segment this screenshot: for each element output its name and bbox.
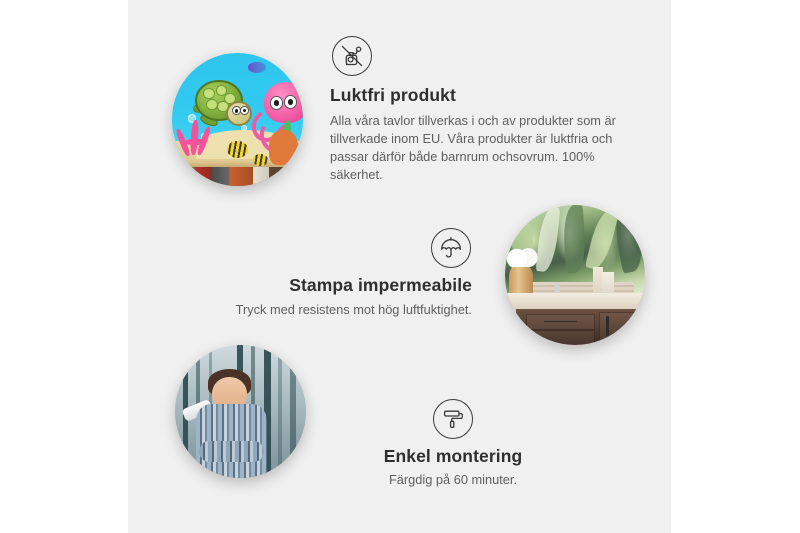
tree-trunk (278, 345, 282, 478)
stone-countertop (505, 293, 645, 310)
vanity-drawer (526, 314, 595, 329)
vanity-door (599, 312, 640, 345)
feature-description: Alla våra tavlor tillverkas i och av pro… (330, 112, 630, 185)
photo-underwater-kids-scene (172, 53, 303, 186)
turtle-eye (240, 106, 249, 115)
feature-title: Enkel montering (318, 446, 588, 468)
shell-spot (203, 88, 215, 99)
feature-icon-wrapper (175, 228, 471, 268)
octopus-eye (284, 95, 297, 109)
lower-scene-strip (172, 167, 303, 186)
door-handle (606, 316, 609, 336)
photo-bathroom-tropical-wallpaper (505, 205, 645, 345)
feature-title: Luktfri produkt (330, 85, 630, 107)
feature-block-waterproof-print: Stampa impermeabile Tryck med resistens … (175, 228, 472, 319)
coral-orange-icon (269, 130, 298, 165)
feature-block-odour-free: Luktfri produkt Alla våra tavlor tillver… (330, 36, 630, 185)
drawer-handle (544, 321, 577, 322)
yellow-fish-icon (253, 154, 267, 166)
wooden-vanity (516, 309, 645, 345)
feature-description: Tryck med resistens mot hög luftfuktighe… (175, 301, 472, 319)
coral-branch (185, 139, 205, 145)
yellow-fish-icon (227, 141, 248, 158)
vanity-drawer (526, 330, 595, 345)
feature-title: Stampa impermeabile (175, 275, 472, 297)
product-feature-panel: Luktfri produkt Alla våra tavlor tillver… (0, 0, 800, 533)
tree-trunk (290, 345, 296, 478)
feature-description: Färgdig på 60 minuter. (318, 471, 588, 489)
paint-roller-icon (433, 399, 473, 439)
photo-painter-forest-mural (175, 345, 306, 478)
leaf-shape (535, 206, 560, 272)
woman-folded-arms (199, 441, 265, 462)
feature-icon-wrapper (318, 399, 588, 439)
leaf-shape (585, 207, 619, 271)
octopus-eye (270, 96, 283, 110)
turtle-head (226, 101, 252, 126)
feature-block-easy-assembly: Enkel montering Färgdig på 60 minuter. (318, 399, 588, 489)
umbrella-icon (431, 228, 471, 268)
no-perfume-icon (332, 36, 372, 76)
purple-fish-icon (248, 62, 266, 73)
coral-icon (177, 120, 222, 165)
shell-spot (206, 99, 218, 110)
leaf-shape (561, 205, 587, 274)
